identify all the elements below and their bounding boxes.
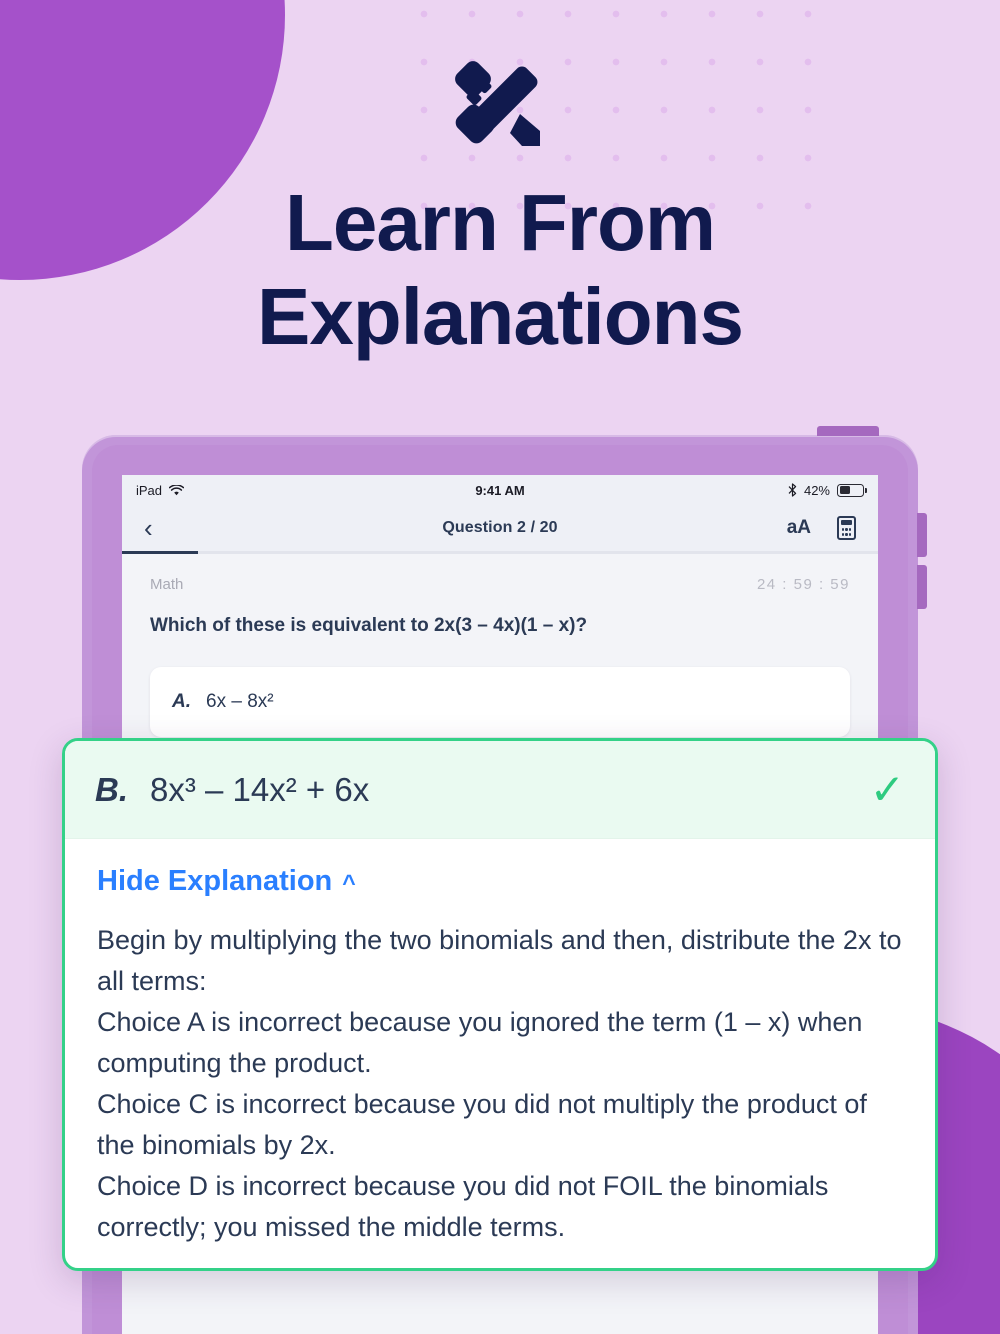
status-battery-percent: 42% — [804, 483, 830, 498]
promo-screenshot: Learn From Explanations iPad 9:41 AM — [0, 0, 1000, 1334]
battery-icon — [837, 484, 864, 497]
explanation-paragraph: Choice C is incorrect because you did no… — [97, 1084, 903, 1166]
correct-answer-row[interactable]: B. 8x³ – 14x² + 6x ✓ — [65, 741, 935, 839]
explanation-paragraph: Choice D is incorrect because you did no… — [97, 1166, 903, 1248]
wifi-icon — [169, 485, 184, 496]
power-button[interactable] — [817, 426, 879, 436]
correct-answer-letter: B. — [95, 771, 128, 809]
status-device-label: iPad — [136, 483, 162, 498]
bluetooth-icon — [788, 483, 797, 497]
question-counter: Question 2 / 20 — [122, 519, 878, 537]
explanation-paragraph: Choice A is incorrect because you ignore… — [97, 1002, 903, 1084]
choice-text: 6x – 8x² — [206, 691, 274, 713]
check-icon: ✓ — [870, 769, 905, 811]
status-bar: iPad 9:41 AM 42% — [122, 475, 878, 505]
chevron-up-icon: ^ — [342, 872, 355, 895]
headline-line-1: Learn From — [0, 176, 1000, 270]
hide-explanation-button[interactable]: Hide Explanation ^ — [97, 865, 356, 898]
calculator-icon[interactable] — [837, 516, 856, 540]
hide-explanation-label: Hide Explanation — [97, 865, 332, 898]
answer-choice-a[interactable]: A. 6x – 8x² — [150, 667, 850, 737]
nav-bar: ‹ Question 2 / 20 aA — [122, 505, 878, 551]
correct-answer-text: 8x³ – 14x² + 6x — [150, 771, 369, 809]
explanation-text: Begin by multiplying the two binomials a… — [97, 920, 903, 1248]
question-meta: Math 24 : 59 : 59 — [150, 576, 850, 593]
headline-line-2: Explanations — [0, 270, 1000, 364]
explanation-card: B. 8x³ – 14x² + 6x ✓ Hide Explanation ^ … — [62, 738, 938, 1271]
explanation-paragraph: Begin by multiplying the two binomials a… — [97, 920, 903, 1002]
choice-letter: A. — [172, 691, 191, 713]
status-time: 9:41 AM — [475, 483, 524, 498]
logo — [0, 52, 1000, 156]
volume-down-button[interactable] — [917, 565, 927, 609]
text-size-button[interactable]: aA — [787, 517, 811, 539]
timer-label: 24 : 59 : 59 — [757, 576, 850, 593]
subject-label: Math — [150, 576, 183, 593]
volume-up-button[interactable] — [917, 513, 927, 557]
question-prompt: Which of these is equivalent to 2x(3 – 4… — [150, 615, 850, 637]
page-title: Learn From Explanations — [0, 176, 1000, 365]
explanation-body: Hide Explanation ^ Begin by multiplying … — [65, 839, 935, 1248]
pencil-ruler-icon — [448, 52, 552, 156]
